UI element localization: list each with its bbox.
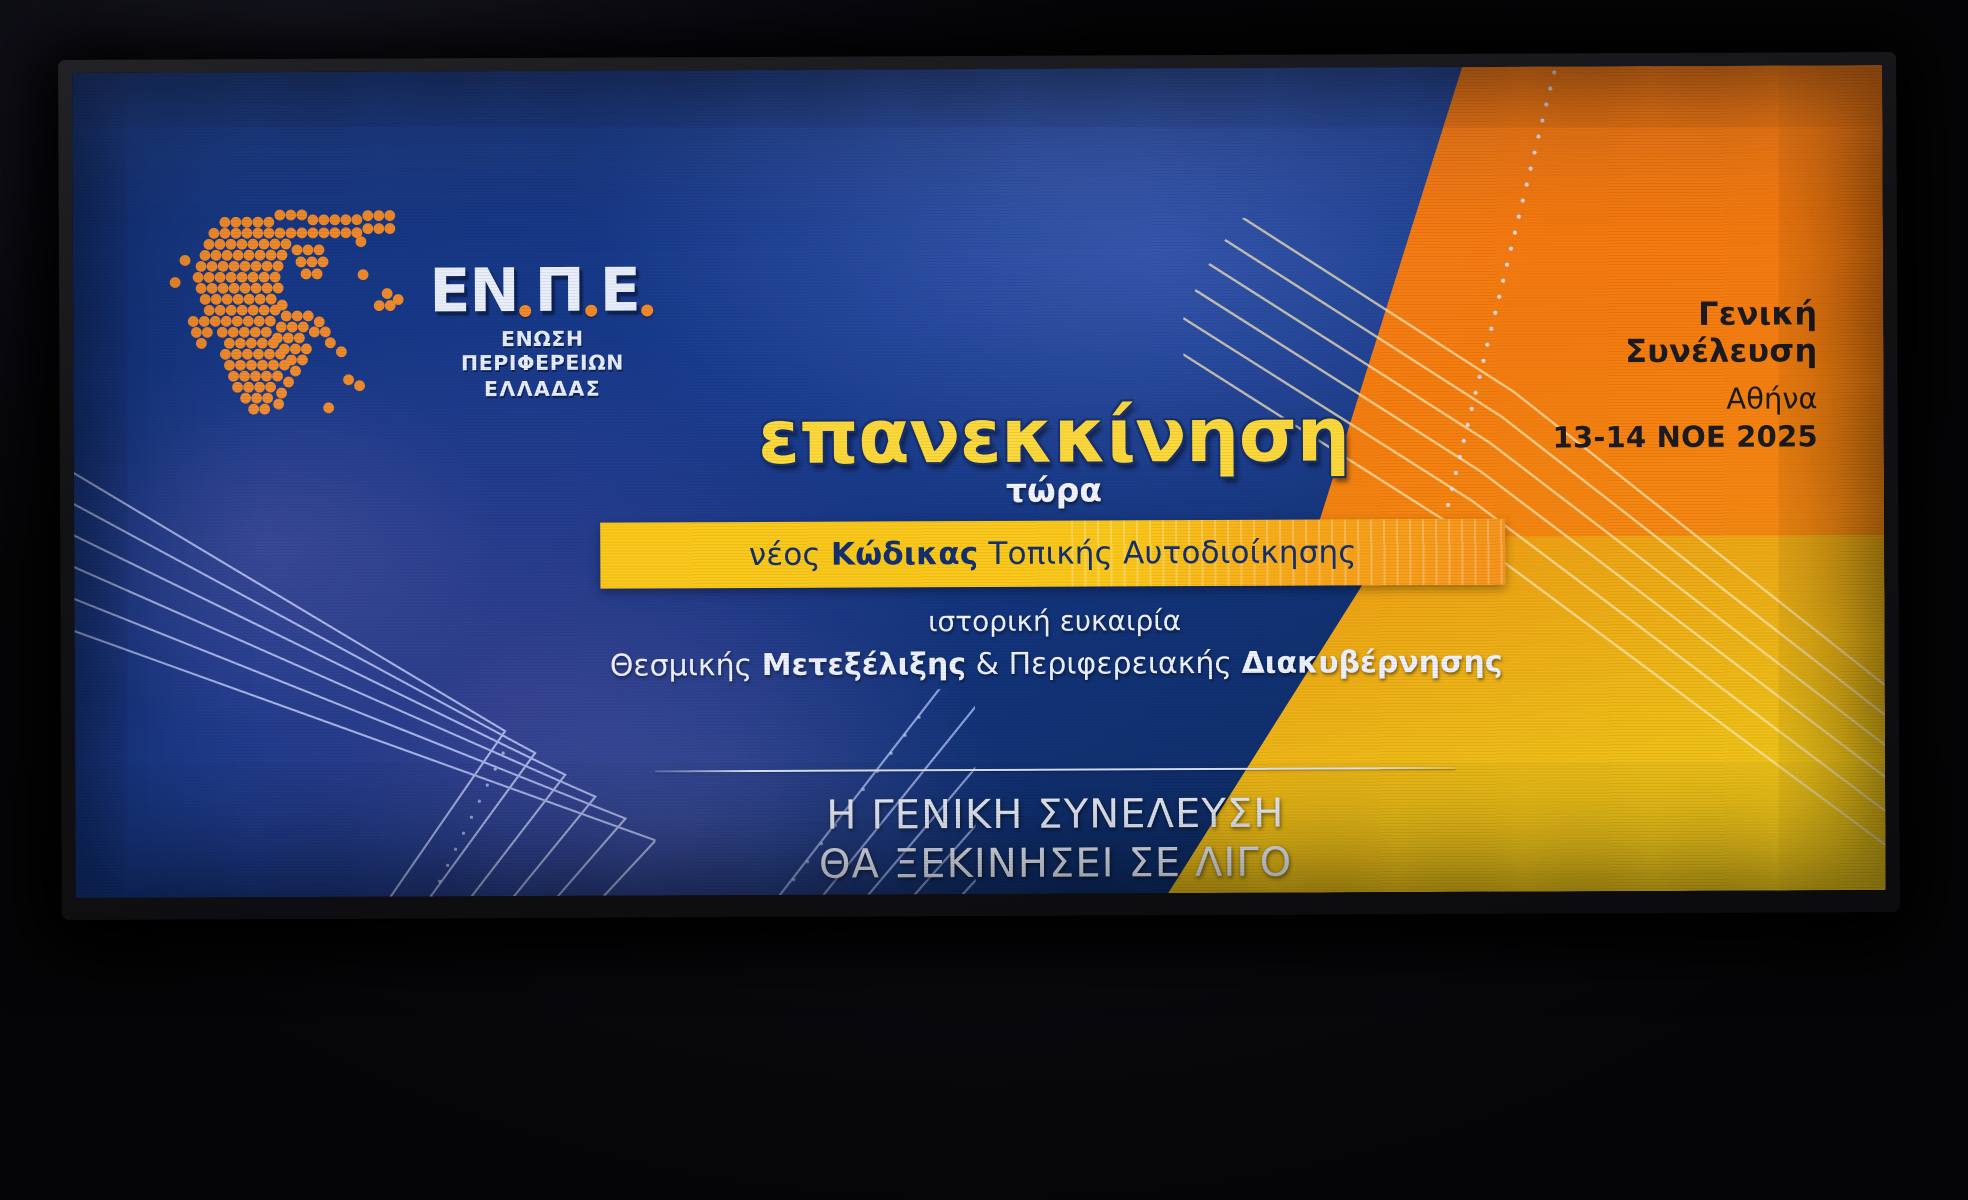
slide-subtitle-line2: Θεσμικής Μετεξέλιξης & Περιφερειακής Δια… — [610, 645, 1490, 684]
event-city: Αθήνα — [1488, 382, 1818, 417]
banner-text: νέος Κώδικας Τοπικής Αυτοδιοίκησης — [749, 534, 1357, 573]
presentation-slide: ΕΝΠΕ ΕΝΩΣΗ ΠΕΡΙΦΕΡΕΙΩΝ ΕΛΛΑΔΑΣ επανεκκίν… — [72, 65, 1886, 898]
highlight-banner: νέος Κώδικας Τοπικής Αυτοδιοίκησης — [600, 519, 1505, 589]
subtitle2-emphasis1: Μετεξέλιξης — [762, 647, 967, 683]
television-screen: ΕΝΠΕ ΕΝΩΣΗ ΠΕΡΙΦΕΡΕΙΩΝ ΕΛΛΑΔΑΣ επανεκκίν… — [58, 52, 1900, 920]
screen-panel: ΕΝΠΕ ΕΝΩΣΗ ΠΕΡΙΦΕΡΕΙΩΝ ΕΛΛΑΔΑΣ επανεκκίν… — [72, 65, 1886, 898]
subtitle2-emphasis2: Διακυβέρνησης — [1241, 645, 1502, 681]
enpe-letters-pi: Π — [535, 263, 584, 320]
enpe-letters-en: ΕΝ — [429, 263, 518, 320]
event-title-line1: Γενική — [1487, 295, 1817, 334]
event-details-panel: Γενική Συνέλευση Αθήνα 13-14 ΝΟΕ 2025 — [1487, 295, 1818, 455]
enpe-separator-dot-1 — [520, 305, 532, 317]
banner-suffix: Τοπικής Αυτοδιοίκησης — [978, 534, 1357, 572]
banner-emphasis: Κώδικας — [831, 536, 979, 573]
notice-line-2: ΘΑ ΞΕΚΙΝΗΣΕΙ ΣΕ ΛΙΓΟ — [656, 838, 1456, 890]
subtitle2-part1: Θεσμικής — [610, 648, 762, 684]
slide-subtitle-line1: ιστορική ευκαιρία — [615, 603, 1495, 640]
subtitle2-part2: & Περιφερειακής — [966, 646, 1242, 682]
event-dates: 13-14 ΝΟΕ 2025 — [1488, 420, 1818, 455]
assembly-notice: Η ΓΕΝΙΚΗ ΣΥΝΕΛΕΥΣΗ ΘΑ ΞΕΚΙΝΗΣΕΙ ΣΕ ΛΙΓΟ — [655, 767, 1456, 898]
enpe-logo: ΕΝΠΕ ΕΝΩΣΗ ΠΕΡΙΦΕΡΕΙΩΝ ΕΛΛΑΔΑΣ — [165, 180, 636, 432]
greece-map-dots-icon — [165, 181, 431, 422]
banner-prefix: νέος — [749, 537, 831, 573]
enpe-separator-dot-2 — [585, 305, 597, 317]
slide-headline: επανεκκίνηση — [614, 397, 1494, 476]
event-title-line2: Συνέλευση — [1487, 332, 1817, 371]
slide-main-content: επανεκκίνηση τώρα νέος Κώδικας Τοπικής Α… — [612, 67, 1496, 896]
slide-headline-subword: τώρα — [614, 469, 1494, 512]
notice-line-1: Η ΓΕΝΙΚΗ ΣΥΝΕΛΕΥΣΗ — [655, 789, 1455, 841]
